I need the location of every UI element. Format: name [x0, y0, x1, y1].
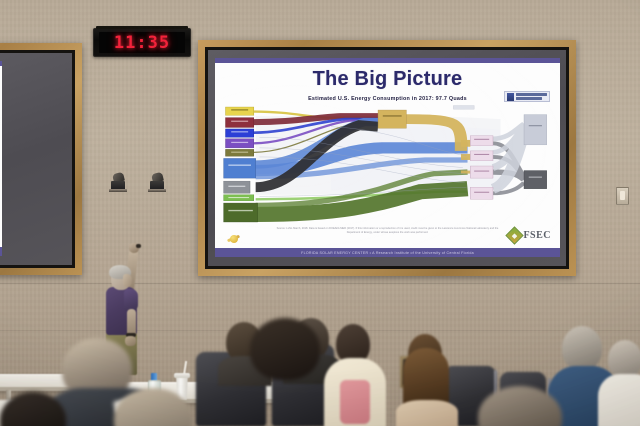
scene-vignette — [0, 0, 640, 426]
conference-room-scene: 11:35 FSEC — [0, 0, 640, 426]
